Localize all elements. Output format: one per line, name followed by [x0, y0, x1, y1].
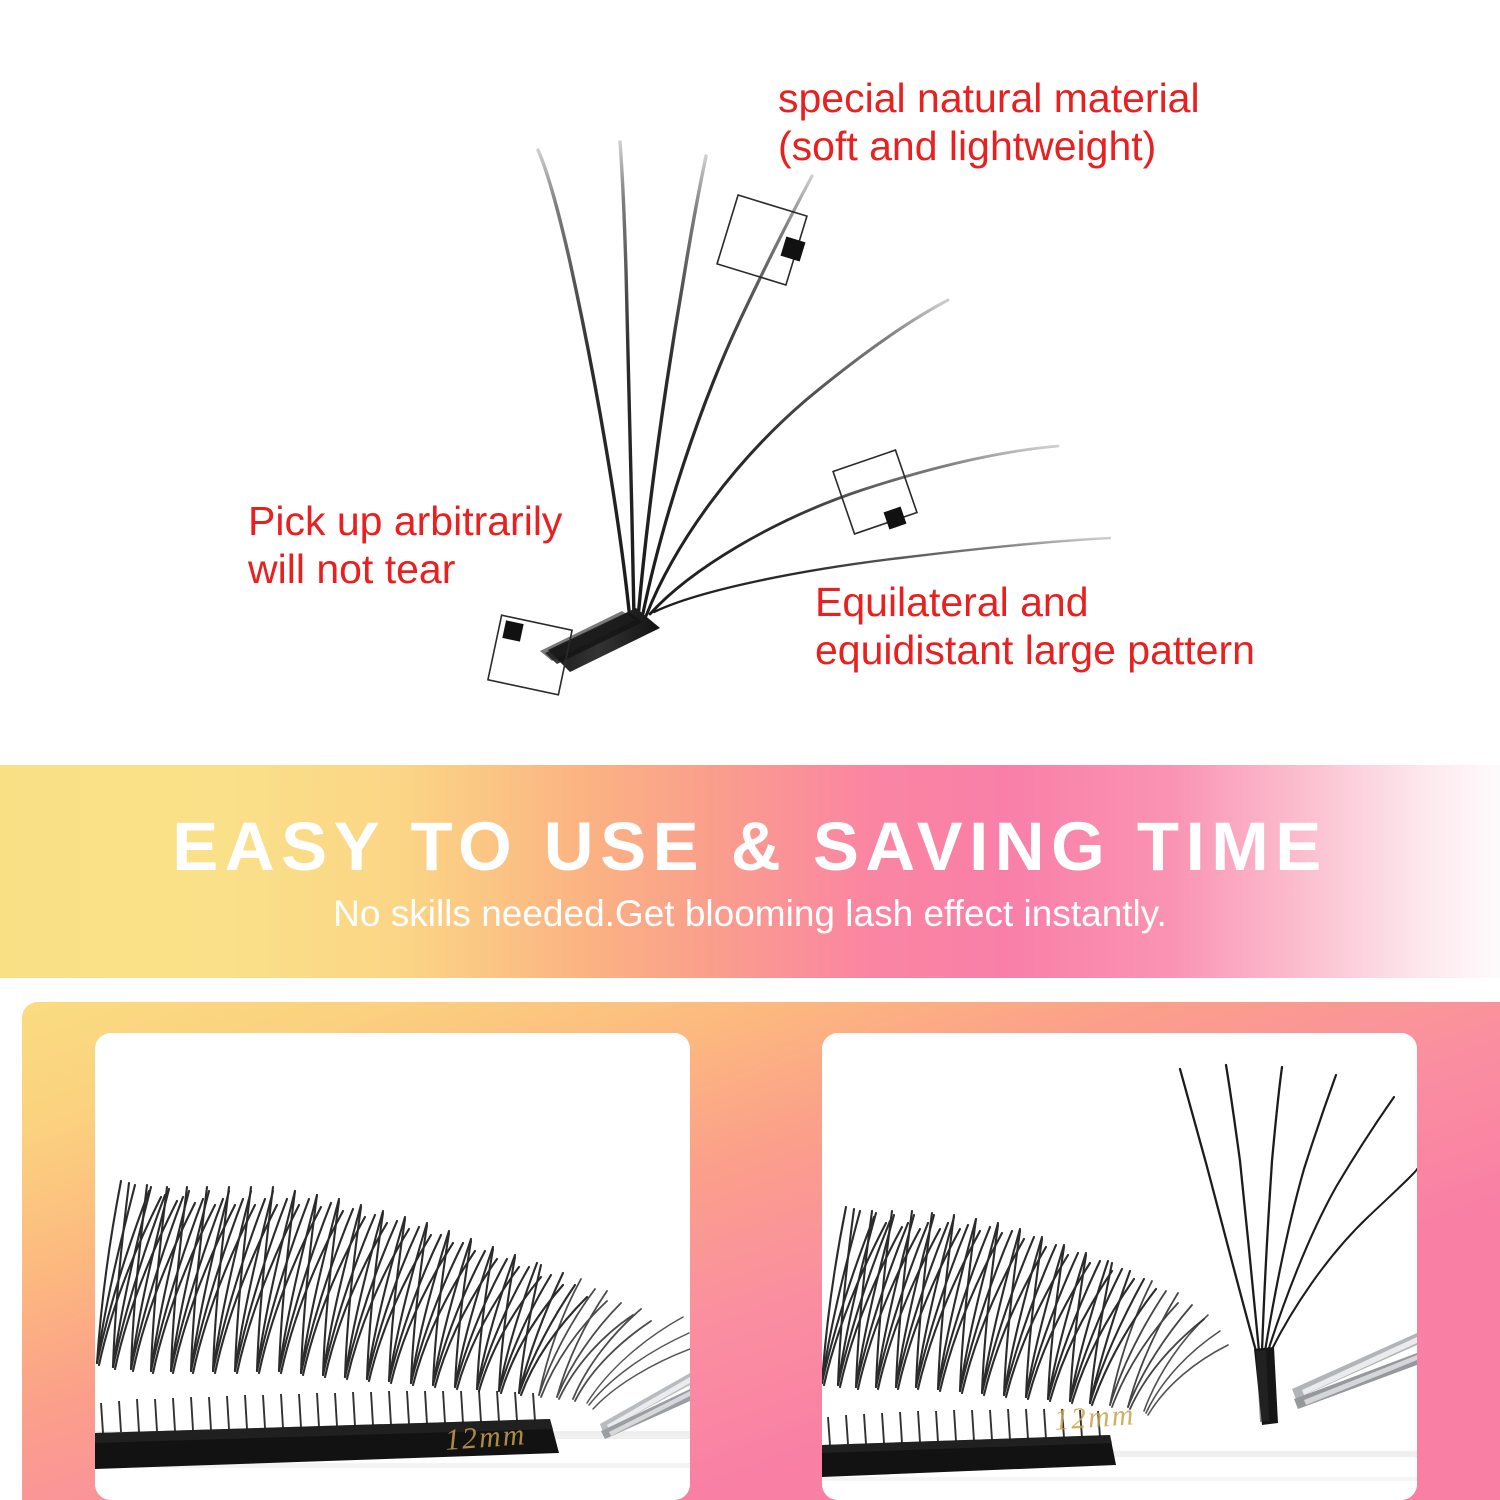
banner-subtitle: No skills needed.Get blooming lash effec…	[333, 895, 1167, 932]
lash-base-group	[540, 608, 660, 672]
lash-strands-group	[538, 142, 1110, 620]
photo-card-lash-fan-pickup: 12mm	[822, 1033, 1417, 1500]
product-photo-panel: 12mm	[22, 1002, 1500, 1500]
size-label-12mm: 12mm	[444, 1418, 528, 1458]
photo-card-lash-tray-tweezers: 12mm	[95, 1033, 690, 1500]
callout-pick-up-arbitrarily: Pick up arbitrarily will not tear	[248, 497, 562, 594]
size-label-12mm: 12mm	[1053, 1398, 1137, 1438]
feature-banner: EASY TO USE & SAVING TIME No skills need…	[0, 765, 1500, 978]
lash-tray-tweezers-photo	[95, 1033, 690, 1500]
banner-title: EASY TO USE & SAVING TIME	[172, 812, 1328, 881]
callout-equilateral-pattern: Equilateral and equidistant large patter…	[815, 578, 1255, 675]
callout-special-natural-material: special natural material (soft and light…	[778, 74, 1200, 171]
lash-fan-diagram-icon	[0, 0, 1500, 765]
hero-section: special natural material (soft and light…	[0, 0, 1500, 765]
